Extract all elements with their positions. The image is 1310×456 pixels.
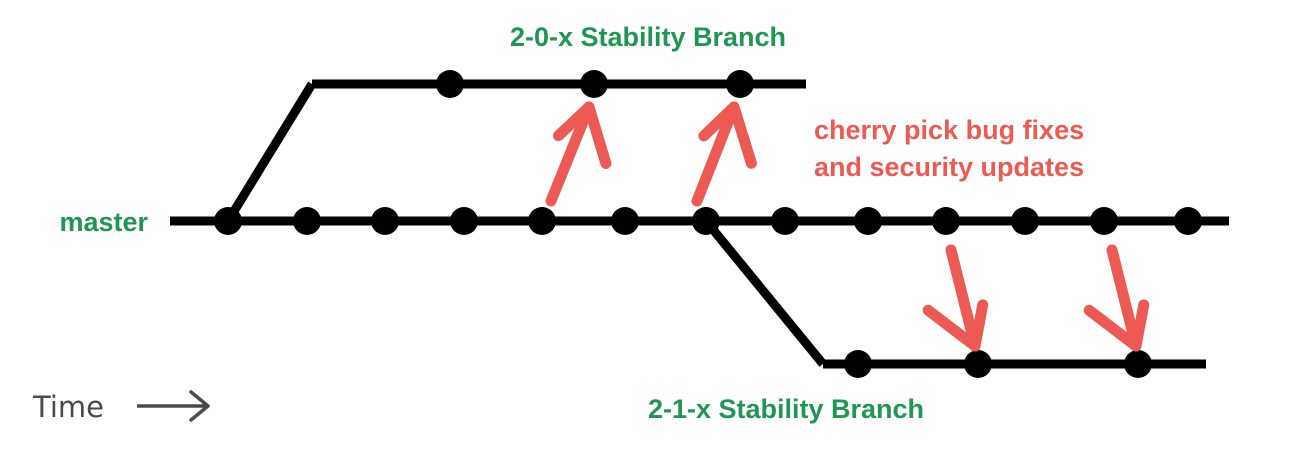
- cherry-pick-annotation-line1: cherry pick bug fixes: [814, 115, 1084, 145]
- commit-dot[interactable]: [214, 207, 242, 235]
- arrow-head-wing: [975, 305, 983, 346]
- branch-diagram-root: 2-0-x Stability Branch master 2-1-x Stab…: [0, 0, 1310, 456]
- master-branch-group: [170, 207, 1229, 235]
- commit-dot[interactable]: [528, 207, 556, 235]
- arrow-head-wing: [589, 107, 606, 163]
- bottom-branch-group: [706, 221, 1206, 378]
- commit-dot[interactable]: [726, 70, 754, 98]
- commit-dot[interactable]: [611, 207, 639, 235]
- commit-dot[interactable]: [1174, 207, 1202, 235]
- commit-dot[interactable]: [450, 207, 478, 235]
- commit-dot[interactable]: [1124, 350, 1152, 378]
- commit-dot[interactable]: [964, 350, 992, 378]
- commit-dot[interactable]: [854, 207, 882, 235]
- bottom-branch-label: 2-1-x Stability Branch: [648, 394, 924, 424]
- top-branch-label: 2-0-x Stability Branch: [510, 22, 786, 52]
- commit-dot[interactable]: [293, 207, 321, 235]
- commit-dot[interactable]: [580, 70, 608, 98]
- cherry-pick-annotation-line2: and security updates: [814, 152, 1084, 182]
- master-branch-label: master: [59, 207, 148, 237]
- time-axis-arrow-icon: [137, 392, 208, 420]
- cherry-pick-arrow-icon: [928, 250, 983, 346]
- arrow-head-wing: [734, 107, 751, 163]
- commit-dot[interactable]: [371, 207, 399, 235]
- commit-dot[interactable]: [436, 70, 464, 98]
- bottom-branch-fork-line: [706, 221, 823, 364]
- arrow-head-wing: [1136, 305, 1144, 346]
- commit-dot[interactable]: [1011, 207, 1039, 235]
- diagram-canvas: 2-0-x Stability Branch master 2-1-x Stab…: [0, 0, 1310, 456]
- cherry-pick-arrow-icon: [697, 107, 751, 201]
- top-branch-fork-line: [228, 84, 312, 221]
- time-axis-label: Time: [32, 390, 104, 424]
- cherry-pick-arrow-icon: [1089, 250, 1144, 346]
- commit-dot[interactable]: [1090, 207, 1118, 235]
- cherry-pick-arrow-icon: [551, 107, 606, 201]
- commit-dot[interactable]: [932, 207, 960, 235]
- commit-dot[interactable]: [771, 207, 799, 235]
- commit-dot[interactable]: [844, 350, 872, 378]
